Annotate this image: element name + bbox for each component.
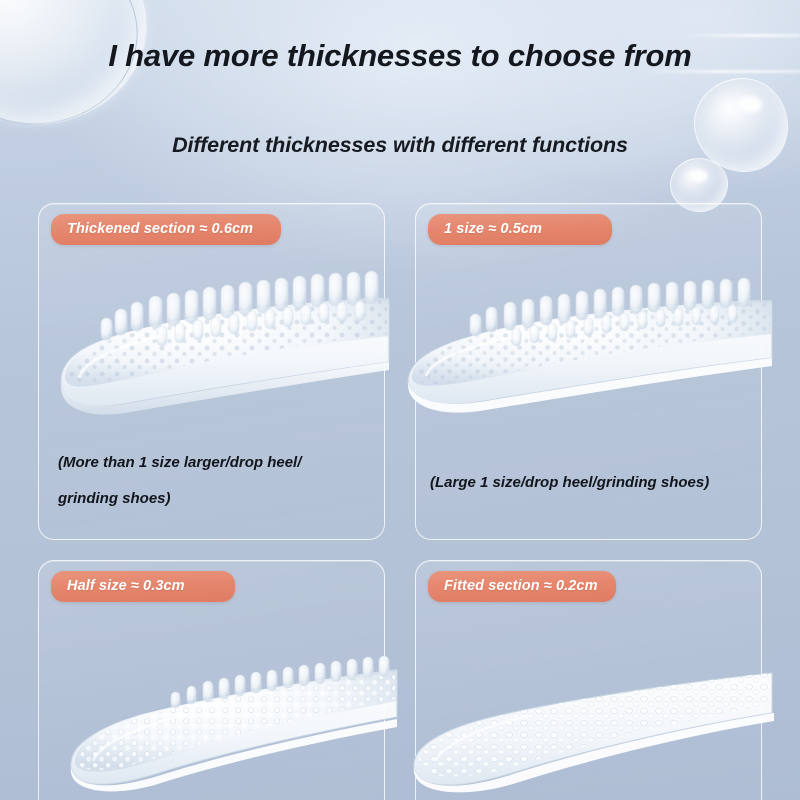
thickness-badge: Thickened section ≈ 0.6cm — [51, 214, 281, 245]
gel-insole-thickened-image — [53, 266, 393, 446]
light-streak-icon — [680, 34, 800, 37]
card-caption: (Large 1 size/drop heel/grinding shoes) — [430, 465, 751, 501]
thickness-badge: Fitted section ≈ 0.2cm — [428, 571, 616, 602]
thickness-badge: Half size ≈ 0.3cm — [51, 571, 235, 602]
thickness-card-half-size: Half size ≈ 0.3cm — [38, 560, 385, 800]
page-title: I have more thicknesses to choose from — [0, 38, 800, 74]
thickness-badge: 1 size ≈ 0.5cm — [428, 214, 612, 245]
thickness-card-one-size: 1 size ≈ 0.5cm — [415, 203, 762, 540]
page-subtitle: Different thicknesses with different fun… — [0, 133, 800, 158]
thickness-card-grid: Thickened section ≈ 0.6cm — [38, 203, 762, 800]
product-infographic: I have more thicknesses to choose from D… — [0, 0, 800, 800]
gel-insole-one-size-image — [404, 272, 776, 447]
gel-insole-fitted-image — [400, 647, 778, 800]
gel-insole-half-size-image — [53, 641, 397, 800]
droplet-highlight-icon — [691, 170, 708, 182]
thickness-card-fitted: Fitted section ≈ 0.2cm — [415, 560, 762, 800]
thickness-card-thickened: Thickened section ≈ 0.6cm — [38, 203, 385, 540]
droplet-highlight-icon — [738, 96, 762, 113]
card-caption: (More than 1 size larger/drop heel/ grin… — [58, 445, 374, 517]
